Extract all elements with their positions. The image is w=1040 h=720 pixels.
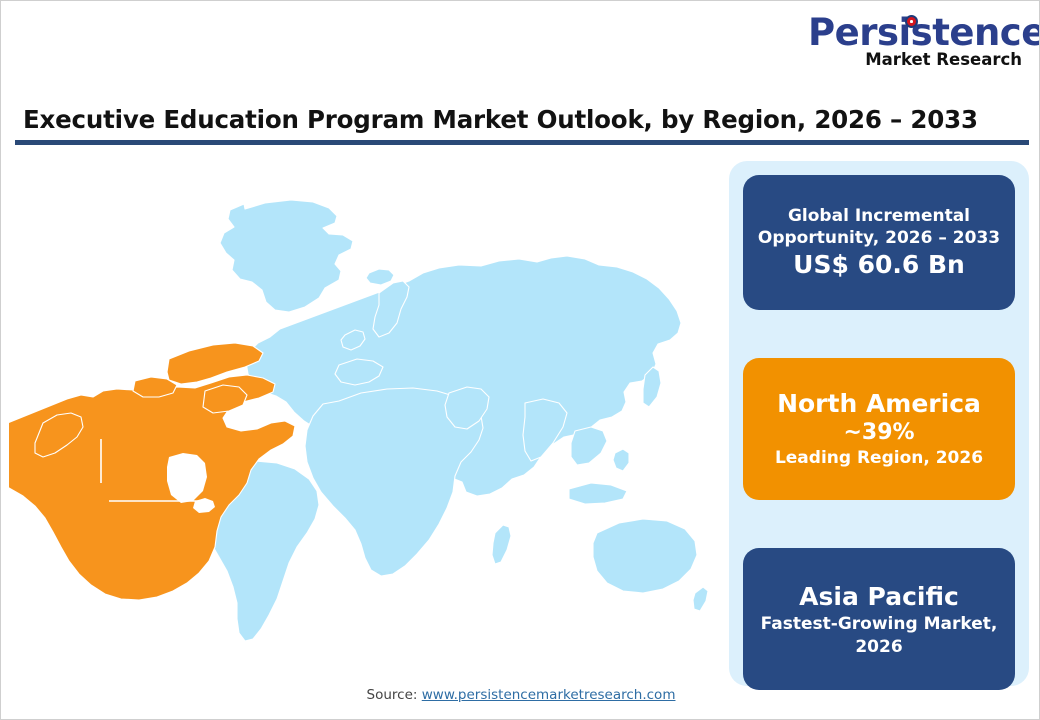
card-leading-region-name: North America <box>777 388 981 419</box>
card-global-line2: Opportunity, 2026 – 2033 <box>758 227 1000 249</box>
world-map <box>9 153 721 673</box>
card-global-value: US$ 60.6 Bn <box>793 249 965 280</box>
region-iceland <box>366 269 394 285</box>
card-global-line1: Global Incremental <box>788 205 970 227</box>
title-divider <box>15 140 1029 145</box>
card-leading-region-note: Leading Region, 2026 <box>775 447 983 470</box>
region-india <box>523 399 567 461</box>
card-leading-region-share: ~39% <box>843 419 914 447</box>
region-greenland <box>220 200 353 312</box>
stats-panel: Global Incremental Opportunity, 2026 – 2… <box>729 161 1029 686</box>
region-baffin-highlight <box>203 385 247 413</box>
brand-logo: Persistence Market Research <box>808 13 1023 79</box>
region-new-zealand <box>693 587 708 611</box>
region-southeast-asia <box>571 427 607 465</box>
region-madagascar <box>492 525 511 564</box>
card-fastest-growing-region-name: Asia Pacific <box>799 581 959 613</box>
region-indonesia <box>569 483 627 504</box>
card-global-incremental-opportunity[interactable]: Global Incremental Opportunity, 2026 – 2… <box>743 175 1015 310</box>
source-link[interactable]: www.persistencemarketresearch.com <box>422 687 676 703</box>
card-fastest-growing-note-line1: Fastest-Growing Market, <box>761 613 998 636</box>
location-pin-icon <box>905 15 918 28</box>
card-fastest-growing-region[interactable]: Asia Pacific Fastest-Growing Market, 202… <box>743 548 1015 690</box>
world-map-svg <box>9 153 721 673</box>
region-philippines <box>613 449 629 471</box>
infographic-frame: Persistence Market Research Executive Ed… <box>0 0 1040 720</box>
page-title: Executive Education Program Market Outlo… <box>23 105 1023 134</box>
source-line: Source: www.persistencemarketresearch.co… <box>1 687 1040 703</box>
region-australia <box>593 519 697 593</box>
source-label: Source: <box>367 687 422 703</box>
card-leading-region[interactable]: North America ~39% Leading Region, 2026 <box>743 358 1015 500</box>
card-fastest-growing-note-line2: 2026 <box>855 636 902 658</box>
